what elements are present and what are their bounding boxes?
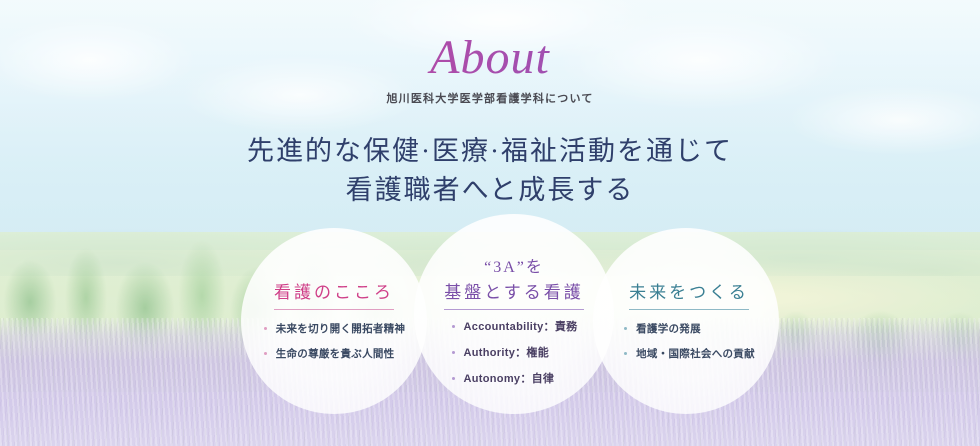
about-hero-section: About 旭川医科大学医学部看護学科について 先進的な保健·医療·福祉活動を通…	[0, 0, 980, 446]
concept-circles: 看護のこころ 未来を切り開く開拓者精神 生命の尊厳を貴ぶ人間性 “3A”を 基盤…	[0, 0, 980, 446]
list-item: Accountability：責務	[451, 320, 578, 335]
card-2-title-line-1: “3A”を	[444, 258, 584, 279]
card-1-title: 看護のこころ	[274, 282, 394, 310]
card-1-list: 未来を切り開く開拓者精神 生命の尊厳を貴ぶ人間性	[263, 322, 406, 372]
concept-card-create-future: 未来をつくる 看護学の発展 地域・国際社会への貢献	[586, 282, 792, 372]
card-2-list: Accountability：責務 Authority：権能 Autonomy：…	[451, 320, 578, 398]
list-item: Authority：権能	[451, 346, 578, 361]
card-2-title-line-2: 基盤とする看護	[444, 282, 584, 304]
card-3-title: 未来をつくる	[629, 282, 749, 310]
concept-card-nursing-heart: 看護のこころ 未来を切り開く開拓者精神 生命の尊厳を貴ぶ人間性	[231, 282, 437, 372]
list-item: 地域・国際社会への貢献	[623, 347, 755, 361]
card-2-title: “3A”を 基盤とする看護	[444, 258, 584, 310]
list-item: 看護学の発展	[623, 322, 755, 336]
list-item: 生命の尊厳を貴ぶ人間性	[263, 347, 406, 361]
list-item: Autonomy：自律	[451, 372, 578, 387]
list-item: 未来を切り開く開拓者精神	[263, 322, 406, 336]
card-3-list: 看護学の発展 地域・国際社会への貢献	[623, 322, 755, 372]
